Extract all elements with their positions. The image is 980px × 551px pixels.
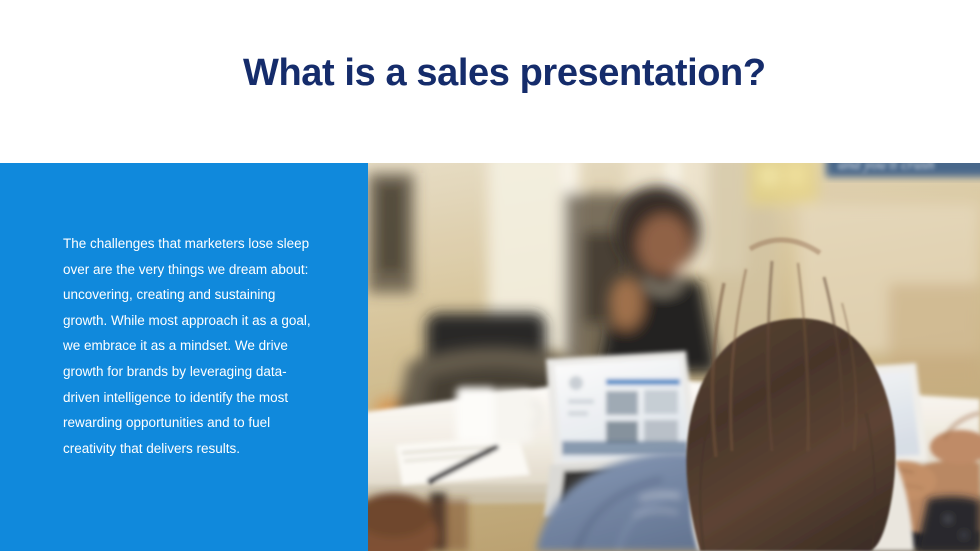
- office-photo-illustration: and you'll crush: [368, 163, 980, 551]
- text-panel: The challenges that marketers lose sleep…: [0, 163, 368, 551]
- office-photo: and you'll crush: [368, 163, 980, 551]
- slide: What is a sales presentation? The challe…: [0, 0, 980, 551]
- body-paragraph: The challenges that marketers lose sleep…: [63, 231, 321, 461]
- title-band: What is a sales presentation?: [0, 0, 980, 163]
- page-title: What is a sales presentation?: [243, 52, 766, 95]
